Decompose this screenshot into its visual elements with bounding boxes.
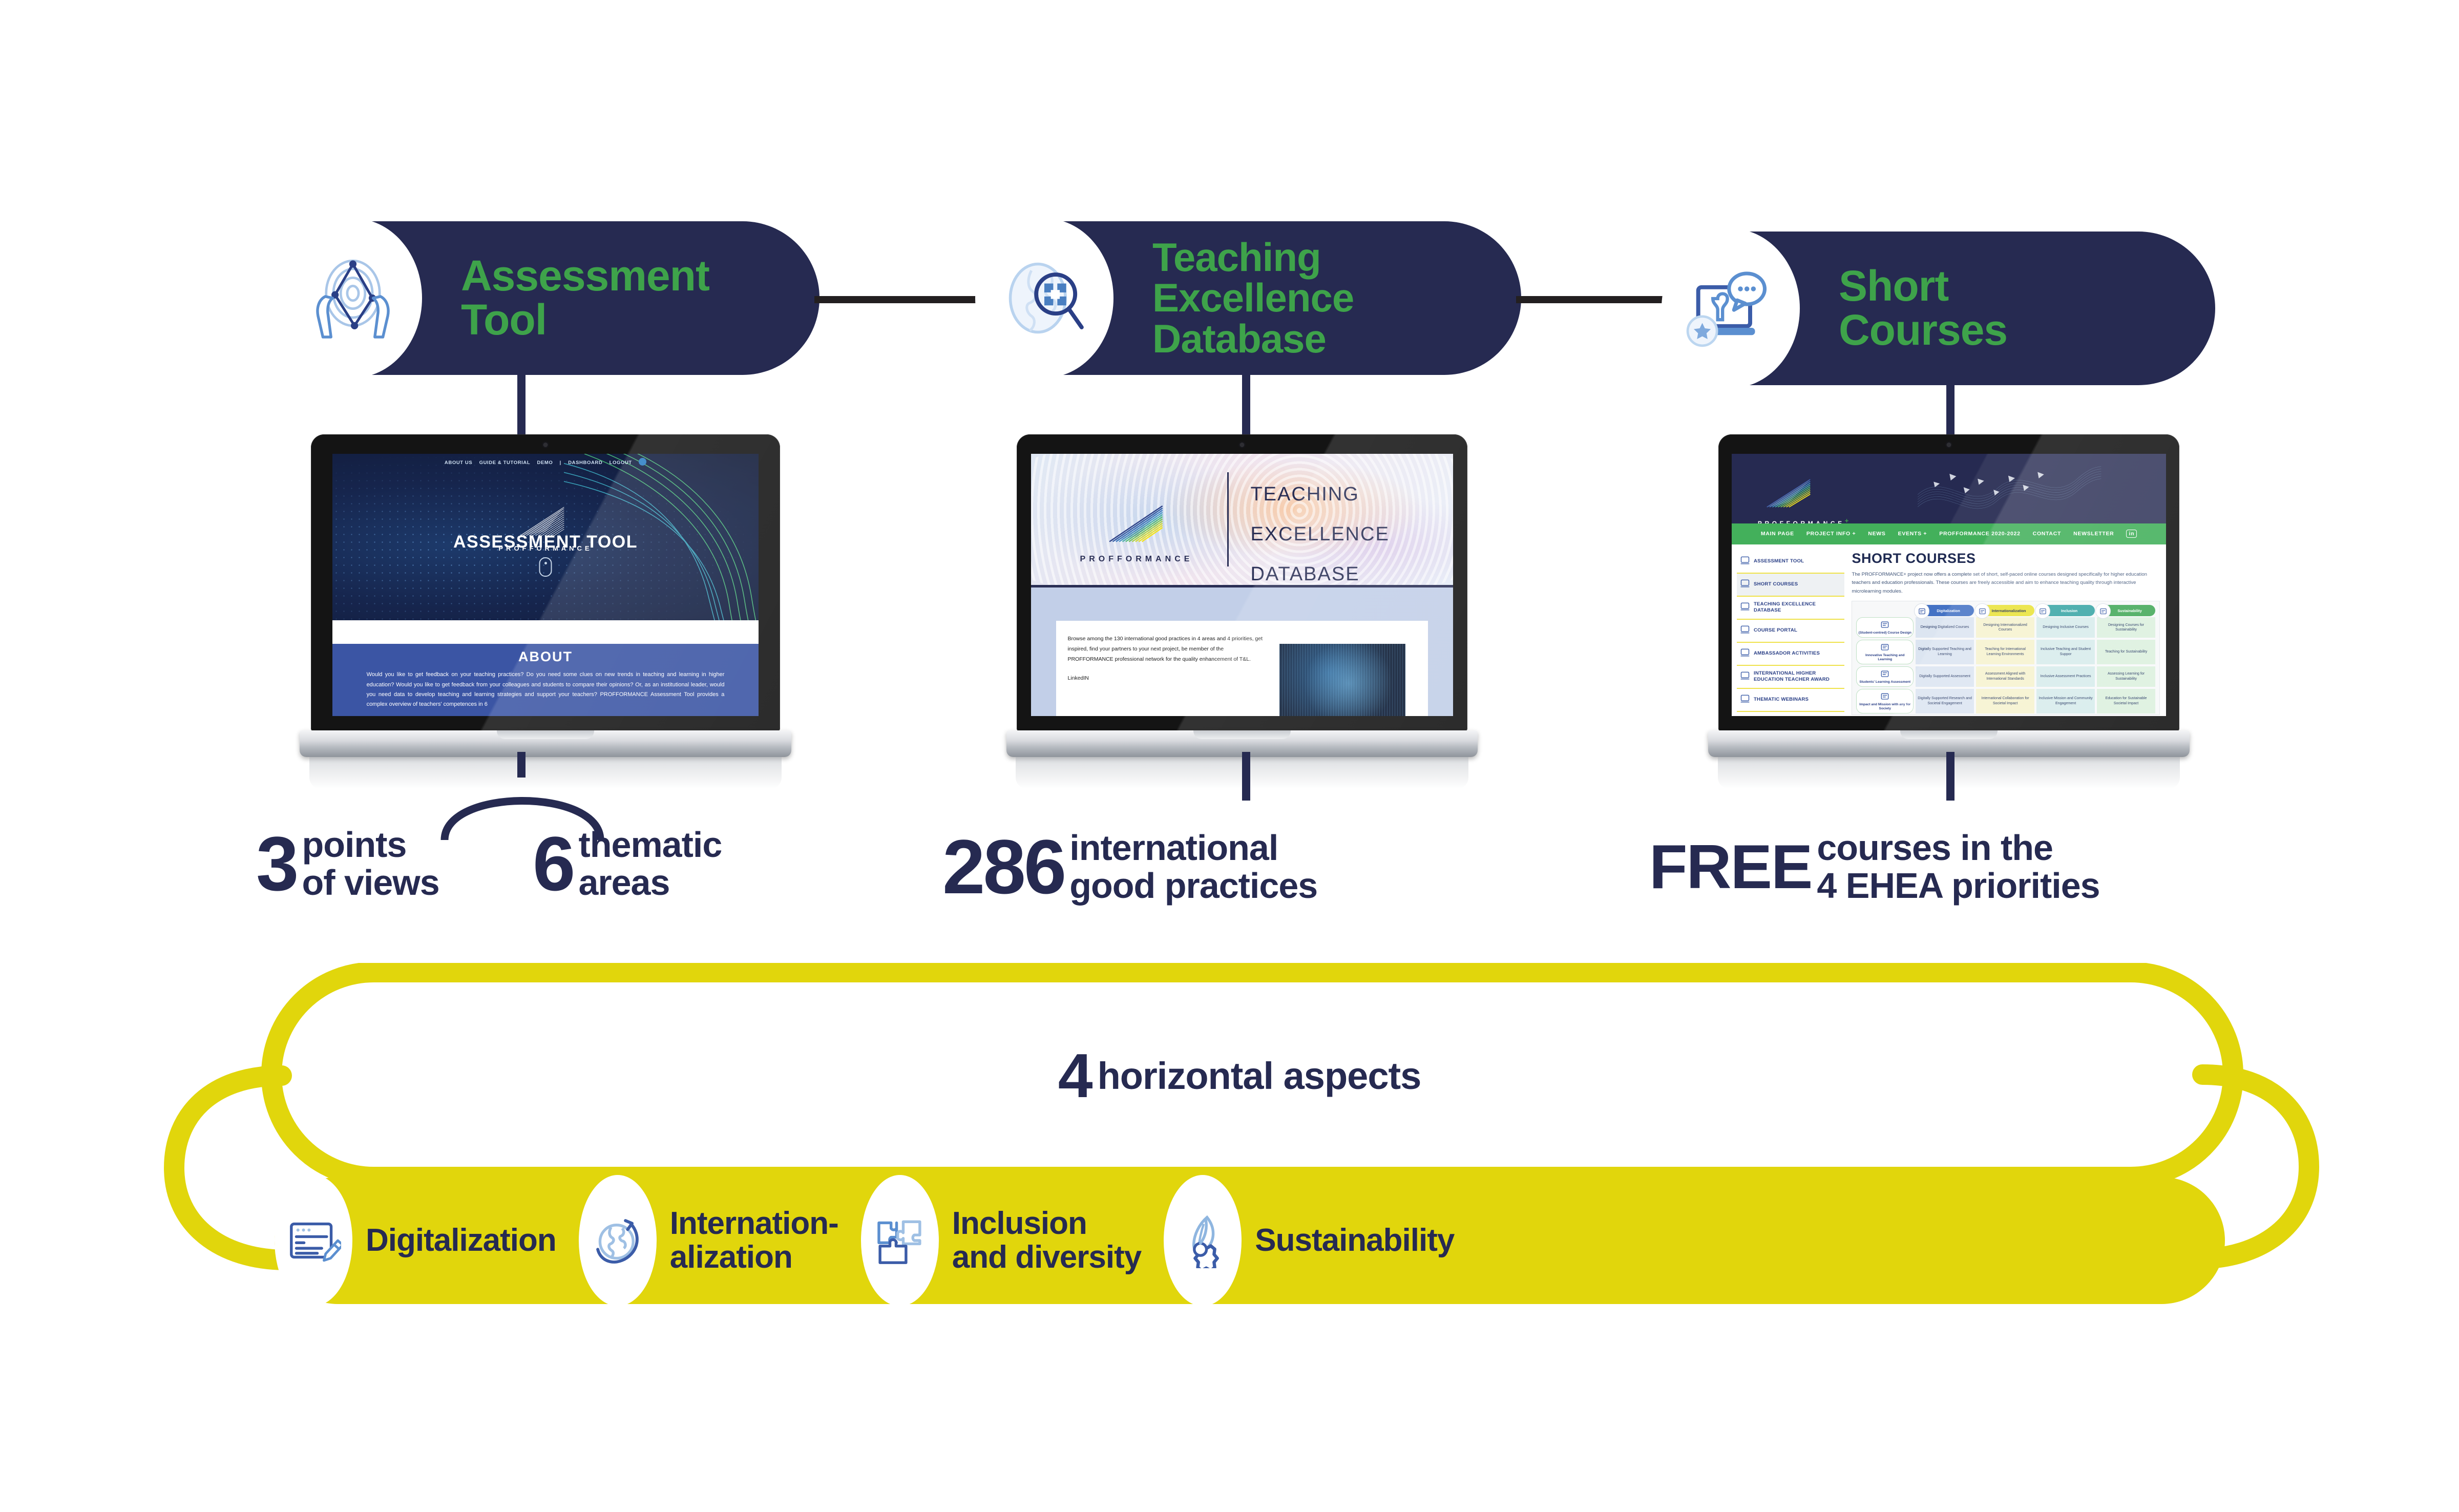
matrix-cell[interactable]: Education for Sustainable Societal Impac… <box>2097 689 2155 713</box>
stat-points-of-views: 3 points of views <box>256 826 439 901</box>
connector-laptop3-stats <box>1946 752 1954 801</box>
globe-magnifier-icon <box>975 218 1113 378</box>
matrix-cell[interactable]: Teaching for Sustainability <box>2097 640 2155 664</box>
hero-banner: PROFFORMANCE TEACHING EXCELLENCE DATABAS… <box>1031 454 1453 585</box>
sidebar-item-teaching-excellence-database[interactable]: TEACHING EXCELLENCE DATABASE <box>1737 597 1844 620</box>
vertical-divider <box>1227 472 1229 566</box>
course-design-icon <box>1879 620 1890 630</box>
matrix-cell[interactable]: Assessing Learning for Sustainability <box>2097 666 2155 687</box>
matrix-row-header: (Student-centred) Course Design <box>1856 617 1914 638</box>
sidebar-item-label: TEACHING EXCELLENCE DATABASE <box>1754 601 1841 614</box>
matrix-cell[interactable]: Designing Inclusive Courses <box>2036 617 2095 638</box>
pillar-teaching-excellence-database[interactable]: Teaching Excellence Database <box>978 221 1521 375</box>
plus-mark: + <box>1845 517 1852 523</box>
nav-separator: | <box>560 460 561 466</box>
screen-title: ASSESSMENT TOOL <box>332 532 759 552</box>
aspect-label: Digitalization <box>366 1224 556 1257</box>
assessment-icon <box>1879 669 1890 679</box>
nav-project-info[interactable]: PROJECT INFO + <box>1806 531 1856 537</box>
aspect-label: Sustainability <box>1255 1224 1454 1257</box>
globe-orbit-icon <box>579 1175 657 1306</box>
sidebar-item-course-portal[interactable]: COURSE PORTAL <box>1737 620 1844 643</box>
innovative-teaching-icon <box>1879 642 1890 653</box>
connector-laptop2-stats <box>1242 752 1250 801</box>
matrix-row-label: (Student-centred) Course Design <box>1859 631 1911 635</box>
nav-about-us[interactable]: ABOUT US <box>445 460 472 466</box>
nav-demo[interactable]: DEMO <box>537 460 553 466</box>
matrix-row-header: Students' Learning Assessment <box>1856 666 1914 687</box>
matrix-column-label: Internationalization <box>1985 608 2026 613</box>
webcam-icon <box>1239 442 1246 448</box>
nav-dashboard[interactable]: DASHBOARD <box>568 460 602 466</box>
sidebar-item-assessment-tool[interactable]: ASSESSMENT TOOL <box>1737 551 1844 574</box>
connector-laptop1-stats <box>517 752 526 778</box>
intro-text: Browse among the 130 international good … <box>1067 634 1268 665</box>
nav-contact[interactable]: CONTACT <box>2033 531 2061 537</box>
stat-thematic-areas: 6 thematic areas <box>533 826 722 901</box>
stat-good-practices: 286 international good practices <box>942 829 1317 905</box>
laptop-short-courses: PROFFORMANCE+ MAIN PAGE PROJECT INFO + N… <box>1708 434 2190 752</box>
matrix-cell[interactable]: Assessment Aligned with International St… <box>1976 666 2034 687</box>
connector-pill3-laptop3 <box>1946 385 1954 435</box>
stat-number: 6 <box>533 831 573 896</box>
about-section: ABOUT Would you like to get feedback on … <box>332 644 759 716</box>
profformance-logo: PROFFORMANCE+ <box>1758 475 1852 523</box>
paper-plane-icon <box>1758 475 1819 512</box>
matrix-cell[interactable]: International Collaboration for Societal… <box>1976 689 2034 713</box>
stat-text: points of views <box>302 826 439 901</box>
connector-pill2-pill3 <box>1516 296 1670 303</box>
webinar-icon <box>1740 694 1750 706</box>
courses-matrix: DigitalizationInternationalizationInclus… <box>1852 601 2160 715</box>
sidebar-item-label: ASSESSMENT TOOL <box>1754 558 1804 564</box>
stat-number: 3 <box>256 831 297 896</box>
sidebar-item-short-courses[interactable]: SHORT COURSES <box>1737 574 1844 597</box>
impact-mission-icon <box>1879 691 1890 702</box>
stat-free-courses: FREE courses in the 4 EHEA priorities <box>1649 829 2100 905</box>
pillar-short-courses[interactable]: Short Courses <box>1665 232 2215 385</box>
laptop-assessment-tool: ABOUT US GUIDE & TUTORIAL DEMO | DASHBOA… <box>300 434 791 752</box>
horizontal-text: horizontal aspects <box>1098 1054 1421 1098</box>
aspect-digitalization[interactable]: Digitalization <box>275 1175 579 1306</box>
page-title: SHORT COURSES <box>1852 551 2160 566</box>
stat-text: courses in the 4 EHEA priorities <box>1817 829 2099 905</box>
aspect-inclusion-and-diversity[interactable]: Inclusion and diversity <box>861 1175 1164 1306</box>
aspect-sustainability[interactable]: Sustainability <box>1164 1175 1477 1306</box>
matrix-cell[interactable]: Inclusive Mission and Community Engageme… <box>2036 689 2095 713</box>
webcam-icon <box>1946 442 1952 448</box>
hands-diamond-network-icon <box>284 218 422 378</box>
hero-banner: ABOUT US GUIDE & TUTORIAL DEMO | DASHBOA… <box>332 454 759 620</box>
laptop-star-icon <box>1740 578 1750 591</box>
matrix-row-label: Students' Learning Assessment <box>1859 680 1910 684</box>
stat-text: international good practices <box>1069 829 1317 905</box>
puzzle-pieces-icon <box>861 1175 939 1306</box>
laptop-speech-star-icon <box>1662 228 1800 388</box>
sidebar-item-ambassador-activities[interactable]: AMBASSADOR ACTIVITIES <box>1737 643 1844 666</box>
sidebar-item-label: AMBASSADOR ACTIVITIES <box>1754 650 1820 657</box>
connector-pill2-laptop2 <box>1242 375 1250 435</box>
sidebar-item-label: INTERNATIONAL HIGHER EDUCATION TEACHER A… <box>1754 670 1841 683</box>
pillar-label: Teaching Excellence Database <box>1152 237 1354 360</box>
stat-number: 286 <box>942 834 1064 899</box>
matrix-row: Impact and Mission with any for SocietyD… <box>1855 688 2156 715</box>
stat-number: FREE <box>1649 841 1812 893</box>
puzzle-icon <box>2035 603 2050 619</box>
profformance-logo: PROFFORMANCE <box>1052 498 1221 564</box>
matrix-column-label: Inclusion <box>2054 608 2077 613</box>
horizontal-count: 4 <box>1058 1051 1091 1101</box>
database-screen[interactable]: PROFFORMANCE TEACHING EXCELLENCE DATABAS… <box>1031 454 1453 716</box>
matrix-row: Students' Learning AssessmentDigitally S… <box>1855 665 2156 688</box>
wordmark: PROFFORMANCE+ <box>1758 517 1852 523</box>
aspect-label: Internation- alization <box>670 1207 838 1274</box>
hero-banner: PROFFORMANCE+ <box>1732 454 2166 523</box>
matrix-column-label: Sustainability <box>2110 608 2141 613</box>
matrix-row-label: Impact and Mission with any for Society <box>1858 703 1912 711</box>
sidebar-item-thematic-webinars[interactable]: THEMATIC WEBINARS <box>1737 689 1844 712</box>
matrix-row-header: Innovative Teaching and Learning <box>1856 640 1914 664</box>
nav-newsletter[interactable]: NEWSLETTER <box>2073 531 2114 537</box>
nav-news[interactable]: NEWS <box>1868 531 1885 537</box>
base-notch <box>1193 730 1291 739</box>
matrix-header-row: DigitalizationInternationalizationInclus… <box>1855 605 2156 616</box>
globe-icon <box>1974 603 1990 619</box>
base-notch <box>1900 730 1998 739</box>
about-body: Would you like to get feedback on your t… <box>367 670 725 709</box>
matrix-cell[interactable]: Designing Courses for Sustainability <box>2097 617 2155 638</box>
base-notch <box>497 730 594 739</box>
sidebar-item-label: SHORT COURSES <box>1754 581 1798 587</box>
wordmark: PROFFORMANCE <box>1052 555 1221 564</box>
laptop-teaching-excellence-database: PROFFORMANCE TEACHING EXCELLENCE DATABAS… <box>1006 434 1478 752</box>
aspect-label: Inclusion and diversity <box>952 1207 1141 1274</box>
intro-text: The PROFFORMANCE+ project now offers a c… <box>1852 571 2160 596</box>
matrix-row: (Student-centred) Course DesignDesigning… <box>1855 616 2156 639</box>
award-icon <box>1740 670 1750 683</box>
site-nav[interactable]: ABOUT US GUIDE & TUTORIAL DEMO | DASHBOA… <box>332 458 759 466</box>
page-body: Browse among the 130 international good … <box>1031 587 1453 716</box>
matrix-cell[interactable]: Inclusive Teaching and Student Suppor <box>2036 640 2095 664</box>
about-heading: ABOUT <box>332 649 759 665</box>
hands-diamond-icon <box>1740 555 1750 568</box>
horizontal-aspects-label: 4 horizontal aspects <box>154 1051 2325 1101</box>
assessment-tool-screen[interactable]: ABOUT US GUIDE & TUTORIAL DEMO | DASHBOA… <box>332 454 759 716</box>
arrows-wave-graphic <box>1853 458 2166 519</box>
matrix-row-label: Innovative Teaching and Learning <box>1858 654 1912 662</box>
matrix-column-label: Digitalization <box>1929 608 1960 613</box>
pillar-label: Short Courses <box>1839 264 2007 352</box>
matrix-column-inclusion[interactable]: Inclusion <box>2036 605 2095 616</box>
matrix-column-sustainability[interactable]: Sustainability <box>2097 605 2155 616</box>
connector-pill1-pill2 <box>814 296 983 303</box>
aspect-internationalization[interactable]: Internation- alization <box>579 1175 861 1306</box>
aspects-bar: Digitalization Internation- alization <box>275 1177 2225 1304</box>
sidebar-menu[interactable]: ASSESSMENT TOOL SHORT COURSES TEACHING E… <box>1732 544 1844 716</box>
matrix-column-internationalization[interactable]: Internationalization <box>1976 605 2034 616</box>
nav-events[interactable]: EVENTS + <box>1898 531 1927 537</box>
matrix-cell[interactable]: Inclusive Assessment Practices <box>2036 666 2095 687</box>
sidebar-item-label: COURSE PORTAL <box>1754 627 1797 634</box>
matrix-cell[interactable]: Teaching for International Learning Envi… <box>1976 640 2034 664</box>
sidebar-item-international-higher-education-teacher-award[interactable]: INTERNATIONAL HIGHER EDUCATION TEACHER A… <box>1737 666 1844 689</box>
sidebar-item-project-outputs[interactable]: PROJECT OUTPUTS <box>1737 712 1844 716</box>
laptop-base <box>300 730 791 757</box>
matrix-cell[interactable]: Designing Internationalized Courses <box>1976 617 2034 638</box>
page-main: ASSESSMENT TOOL SHORT COURSES TEACHING E… <box>1732 544 2166 716</box>
nav-profformance-2020-2022[interactable]: PROFFORMANCE 2020-2022 <box>1939 531 2020 537</box>
stat-text: thematic areas <box>578 826 722 901</box>
share-icon[interactable] <box>639 458 646 466</box>
scroll-down-icon[interactable] <box>539 557 552 577</box>
form-pencil-icon <box>275 1175 352 1306</box>
portal-icon <box>1740 624 1750 637</box>
leaf-gear-icon <box>2095 603 2111 619</box>
matrix-column-digitalization[interactable]: Digitalization <box>1916 605 1974 616</box>
leaf-gear-icon <box>1164 1175 1242 1306</box>
webcam-icon <box>542 442 549 448</box>
pillar-assessment-tool[interactable]: Assessment Tool <box>287 221 819 375</box>
matrix-row: Innovative Teaching and LearningDigitall… <box>1855 639 2156 665</box>
content-card: Browse among the 130 international good … <box>1056 621 1427 716</box>
matrix-corner <box>1856 606 1914 615</box>
technology-photo <box>1279 644 1406 716</box>
paper-plane-icon <box>1098 498 1175 547</box>
people-frame-icon <box>1740 647 1750 660</box>
horizontal-aspects-section: 4 horizontal aspects Digitalization <box>154 963 2325 1321</box>
sidebar-item-label: THEMATIC WEBINARS <box>1754 697 1809 703</box>
nav-main-page[interactable]: MAIN PAGE <box>1761 531 1794 537</box>
nav-logout[interactable]: LOGOUT <box>610 460 632 466</box>
connector-pill1-laptop1 <box>517 375 526 435</box>
nav-guide-tutorial[interactable]: GUIDE & TUTORIAL <box>479 460 531 466</box>
content-area: SHORT COURSES The PROFFORMANCE+ project … <box>1844 544 2166 716</box>
matrix-cell[interactable]: Digitally Supported Teaching and Learnin… <box>1916 640 1974 664</box>
matrix-cell[interactable]: Digitally Supported Assessment <box>1916 666 1974 687</box>
site-nav[interactable]: MAIN PAGE PROJECT INFO + NEWS EVENTS + P… <box>1732 523 2166 544</box>
globe-search-icon <box>1740 601 1750 614</box>
screen-title: TEACHING EXCELLENCE DATABASE <box>1250 475 1389 585</box>
linkedin-icon[interactable]: in <box>2126 530 2137 538</box>
matrix-cell[interactable]: Designing Digitalized Courses <box>1916 617 1974 638</box>
short-courses-screen[interactable]: PROFFORMANCE+ MAIN PAGE PROJECT INFO + N… <box>1732 454 2166 716</box>
matrix-cell[interactable]: Digitally Supported Research and Societa… <box>1916 689 1974 713</box>
pillar-label: Assessment Tool <box>461 254 709 342</box>
matrix-row-header: Impact and Mission with any for Society <box>1856 689 1914 713</box>
